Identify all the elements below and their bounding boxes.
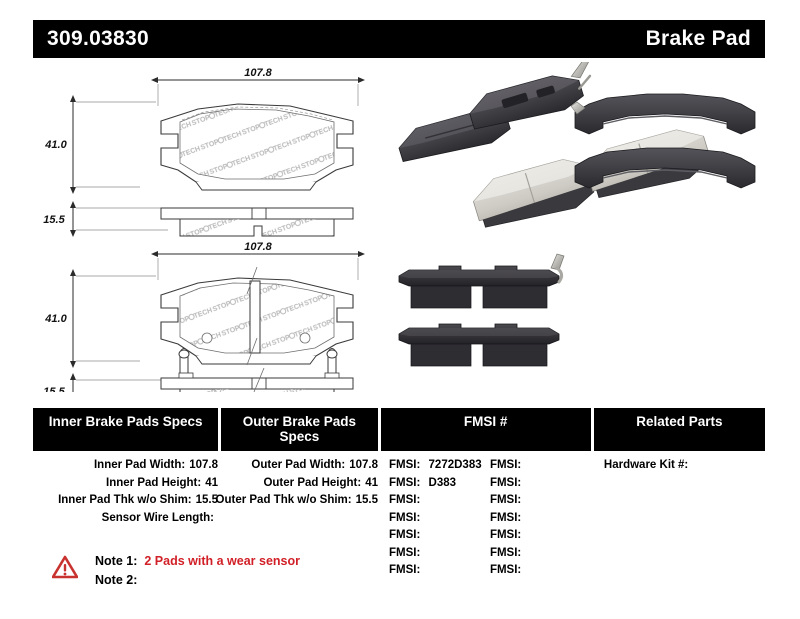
note-1-text: 2 Pads with a wear sensor: [144, 552, 300, 571]
fmsi-row: FMSI:: [490, 492, 591, 510]
fmsi-label: FMSI:: [389, 494, 420, 506]
brake-pad-photographs: [385, 62, 775, 392]
fmsi-label: FMSI:: [490, 512, 521, 524]
fmsi-row: FMSI:: [490, 545, 591, 563]
fmsi-row: FMSI:: [490, 475, 591, 493]
fmsi-row: FMSI:: [389, 510, 486, 528]
header-outer-specs: Outer Brake Pads Specs: [221, 408, 377, 451]
fmsi-column: FMSI: 7272D383 FMSI: D383 FMSI: FMSI: FM…: [381, 457, 591, 580]
fmsi-label: FMSI:: [389, 477, 420, 489]
spec-label: Outer Pad Height:: [263, 475, 361, 493]
fmsi-subcolumn-left: FMSI: 7272D383 FMSI: D383 FMSI: FMSI: FM…: [381, 457, 486, 580]
fmsi-label: FMSI:: [490, 494, 521, 506]
spec-value: 107.8: [349, 457, 378, 475]
fmsi-label: FMSI:: [389, 547, 420, 559]
fmsi-label: FMSI:: [389, 512, 420, 524]
rear-width-dimension: 107.8: [244, 241, 272, 253]
fmsi-row: FMSI:: [490, 510, 591, 528]
note-2-label: Note 2:: [95, 571, 137, 590]
front-height-dimension: 41.0: [44, 139, 67, 151]
fmsi-label: FMSI:: [389, 564, 420, 576]
notes-section: Note 1: 2 Pads with a wear sensor Note 2…: [52, 552, 300, 590]
fmsi-label: FMSI:: [389, 529, 420, 541]
spec-value: 107.8: [189, 457, 218, 475]
spec-row: Outer Pad Thk w/o Shim: 15.5: [221, 492, 378, 510]
fmsi-label: FMSI:: [389, 459, 420, 471]
spec-label: Inner Pad Width:: [94, 457, 185, 475]
part-number: 309.03830: [47, 27, 149, 51]
fmsi-row: FMSI:: [490, 457, 591, 475]
header-bar: 309.03830 Brake Pad: [33, 20, 765, 58]
fmsi-label: FMSI:: [490, 529, 521, 541]
related-parts-column: Hardware Kit #:: [594, 457, 765, 580]
note-1: Note 1: 2 Pads with a wear sensor: [95, 552, 300, 571]
front-thickness-dimension: 15.5: [43, 214, 65, 226]
spec-row: Sensor Wire Length:: [33, 510, 218, 528]
fmsi-row: FMSI:: [389, 545, 486, 563]
photo-edge-view-pads: [399, 254, 564, 366]
related-part-label: Hardware Kit #:: [604, 459, 688, 471]
fmsi-label: FMSI:: [490, 564, 521, 576]
note-2: Note 2:: [95, 571, 300, 590]
spec-label: Inner Pad Thk w/o Shim:: [58, 492, 192, 510]
header-fmsi: FMSI #: [381, 408, 591, 451]
fmsi-value: 7272D383: [429, 459, 482, 471]
fmsi-row: FMSI: D383: [389, 475, 486, 493]
spec-row: Outer Pad Height: 41: [221, 475, 378, 493]
brake-pad-dimension-drawings: STOP TECH 107.8 41.0 15.5: [28, 62, 378, 392]
spec-value: 41: [205, 475, 218, 493]
header-related-parts: Related Parts: [594, 408, 765, 451]
product-photos-panel: [385, 62, 775, 392]
spec-row: Outer Pad Width: 107.8: [221, 457, 378, 475]
note-1-label: Note 1:: [95, 552, 137, 571]
spec-label: Inner Pad Height:: [106, 475, 201, 493]
fmsi-row: FMSI:: [389, 492, 486, 510]
spec-row: Inner Pad Thk w/o Shim: 15.5: [33, 492, 218, 510]
product-type: Brake Pad: [646, 27, 751, 51]
fmsi-row: FMSI:: [490, 527, 591, 545]
fmsi-row: FMSI:: [490, 562, 591, 580]
technical-drawings-panel: STOP TECH 107.8 41.0 15.5: [28, 62, 378, 392]
fmsi-value: D383: [429, 477, 457, 489]
spec-value: 15.5: [356, 492, 378, 510]
fmsi-label: FMSI:: [490, 477, 521, 489]
spec-value: 41: [365, 475, 378, 493]
spec-label: Sensor Wire Length:: [102, 510, 214, 528]
spec-label: Outer Pad Thk w/o Shim:: [216, 492, 352, 510]
fmsi-row: FMSI: 7272D383: [389, 457, 486, 475]
spec-label: Outer Pad Width:: [251, 457, 345, 475]
table-header-row: Inner Brake Pads Specs Outer Brake Pads …: [33, 408, 765, 451]
fmsi-label: FMSI:: [490, 459, 521, 471]
rear-height-dimension: 41.0: [44, 313, 67, 325]
note-lines: Note 1: 2 Pads with a wear sensor Note 2…: [95, 552, 300, 590]
spec-row: Inner Pad Width: 107.8: [33, 457, 218, 475]
fmsi-subcolumn-right: FMSI: FMSI: FMSI: FMSI: FMSI:: [486, 457, 591, 580]
rear-thickness-dimension: 15.5: [43, 386, 65, 392]
spec-row: Inner Pad Height: 41: [33, 475, 218, 493]
front-width-dimension: 107.8: [244, 67, 272, 79]
header-inner-specs: Inner Brake Pads Specs: [33, 408, 218, 451]
warning-triangle-icon: [52, 555, 78, 579]
fmsi-label: FMSI:: [490, 547, 521, 559]
fmsi-row: FMSI:: [389, 527, 486, 545]
fmsi-row: FMSI:: [389, 562, 486, 580]
related-part-row: Hardware Kit #:: [594, 457, 765, 475]
